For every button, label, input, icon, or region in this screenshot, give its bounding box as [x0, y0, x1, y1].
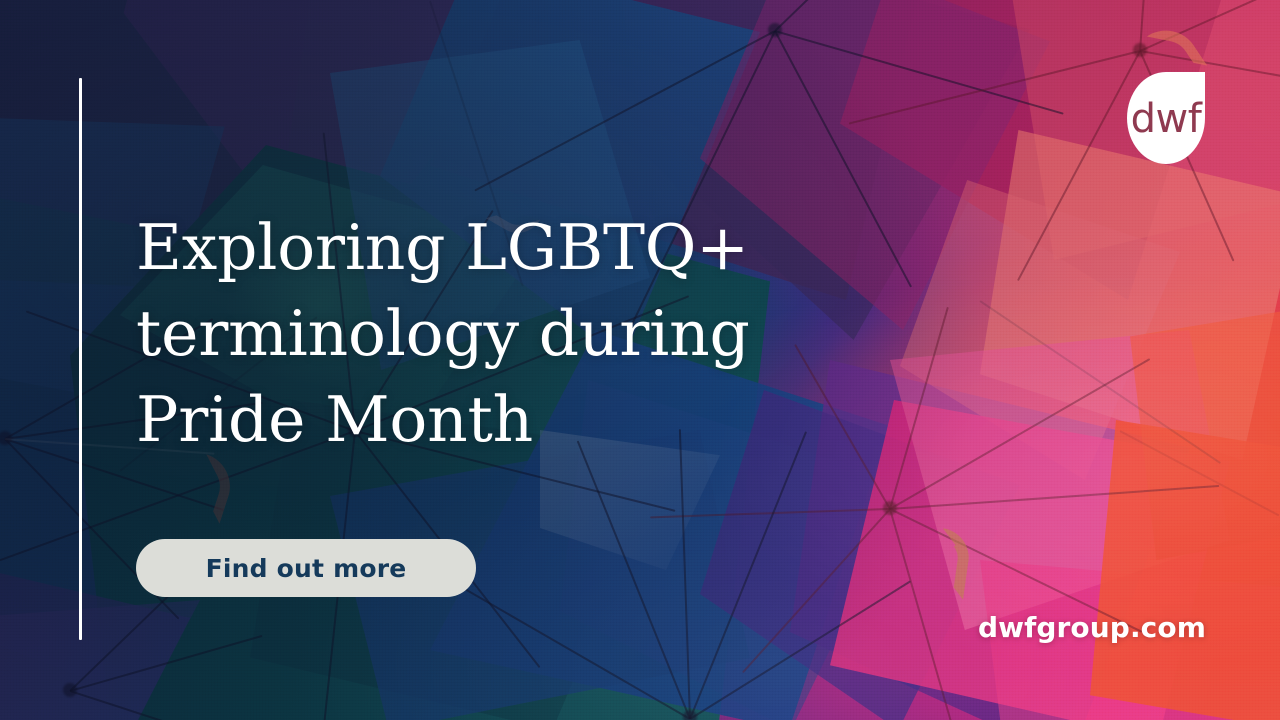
find-out-more-button[interactable]: Find out more [136, 539, 476, 597]
dwf-logo[interactable]: dwf [1127, 72, 1205, 164]
dwf-logo-text: dwf [1131, 99, 1202, 139]
promo-banner: Exploring LGBTQ+ terminology during Prid… [0, 0, 1280, 720]
vertical-accent-rule [79, 78, 82, 640]
page-title: Exploring LGBTQ+ terminology during Prid… [136, 205, 876, 463]
website-url: dwfgroup.com [978, 611, 1206, 644]
